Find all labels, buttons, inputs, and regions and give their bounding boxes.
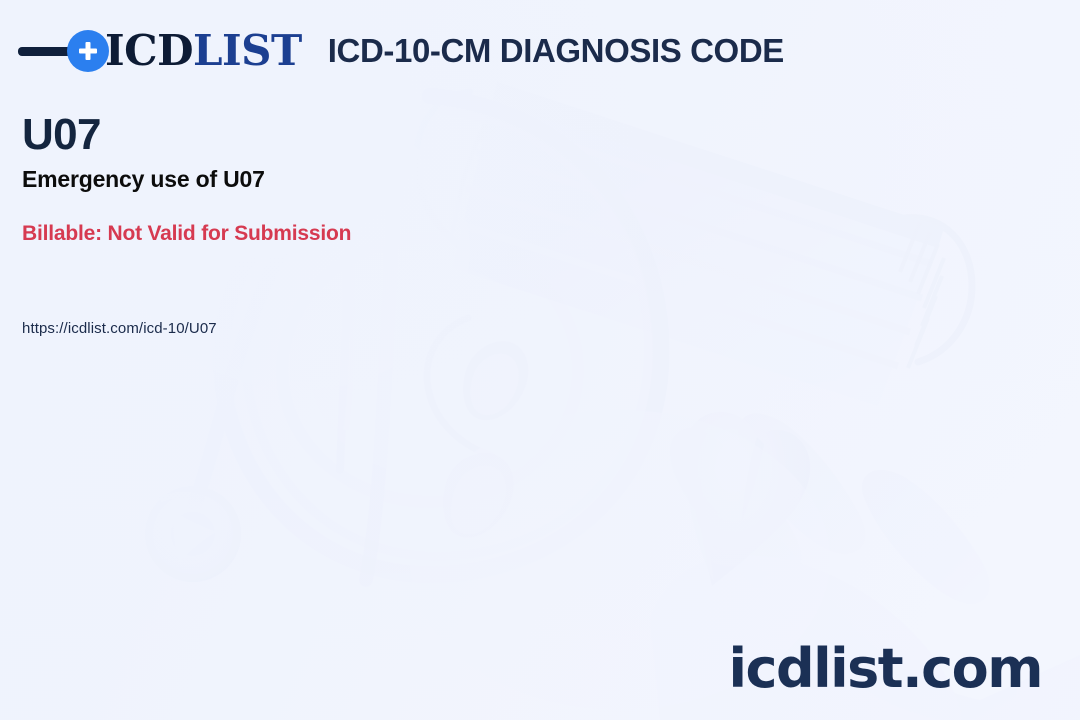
plus-circle-icon — [67, 30, 109, 72]
diagnosis-code-block: U07 Emergency use of U07 — [22, 112, 265, 193]
header: ICDLIST ICD-10-CM DIAGNOSIS CODE — [18, 22, 784, 80]
icdlist-logo[interactable]: ICDLIST — [18, 28, 302, 74]
background-vignette — [0, 0, 1080, 720]
background-wash — [0, 0, 1080, 720]
billable-status: Billable: Not Valid for Submission — [22, 222, 351, 246]
logo-text-list: LIST — [193, 26, 302, 75]
source-url[interactable]: https://icdlist.com/icd-10/U07 — [22, 320, 217, 337]
diagnosis-description: Emergency use of U07 — [22, 166, 265, 193]
stethoscope-earpieces — [443, 341, 528, 538]
poster-canvas: ICDLIST ICD-10-CM DIAGNOSIS CODE U07 Eme… — [0, 0, 1080, 720]
surgical-mask-icon — [416, 82, 972, 456]
logo-text-icd: ICD — [105, 26, 193, 75]
site-watermark: icdlist.com — [728, 637, 1042, 700]
dash-icon — [18, 47, 73, 56]
stethoscope-chestpiece — [145, 486, 241, 582]
page-title: ICD-10-CM DIAGNOSIS CODE — [328, 32, 784, 70]
diagnosis-code: U07 — [22, 112, 265, 158]
background-artwork — [0, 0, 1080, 720]
heart-icon — [686, 412, 810, 586]
